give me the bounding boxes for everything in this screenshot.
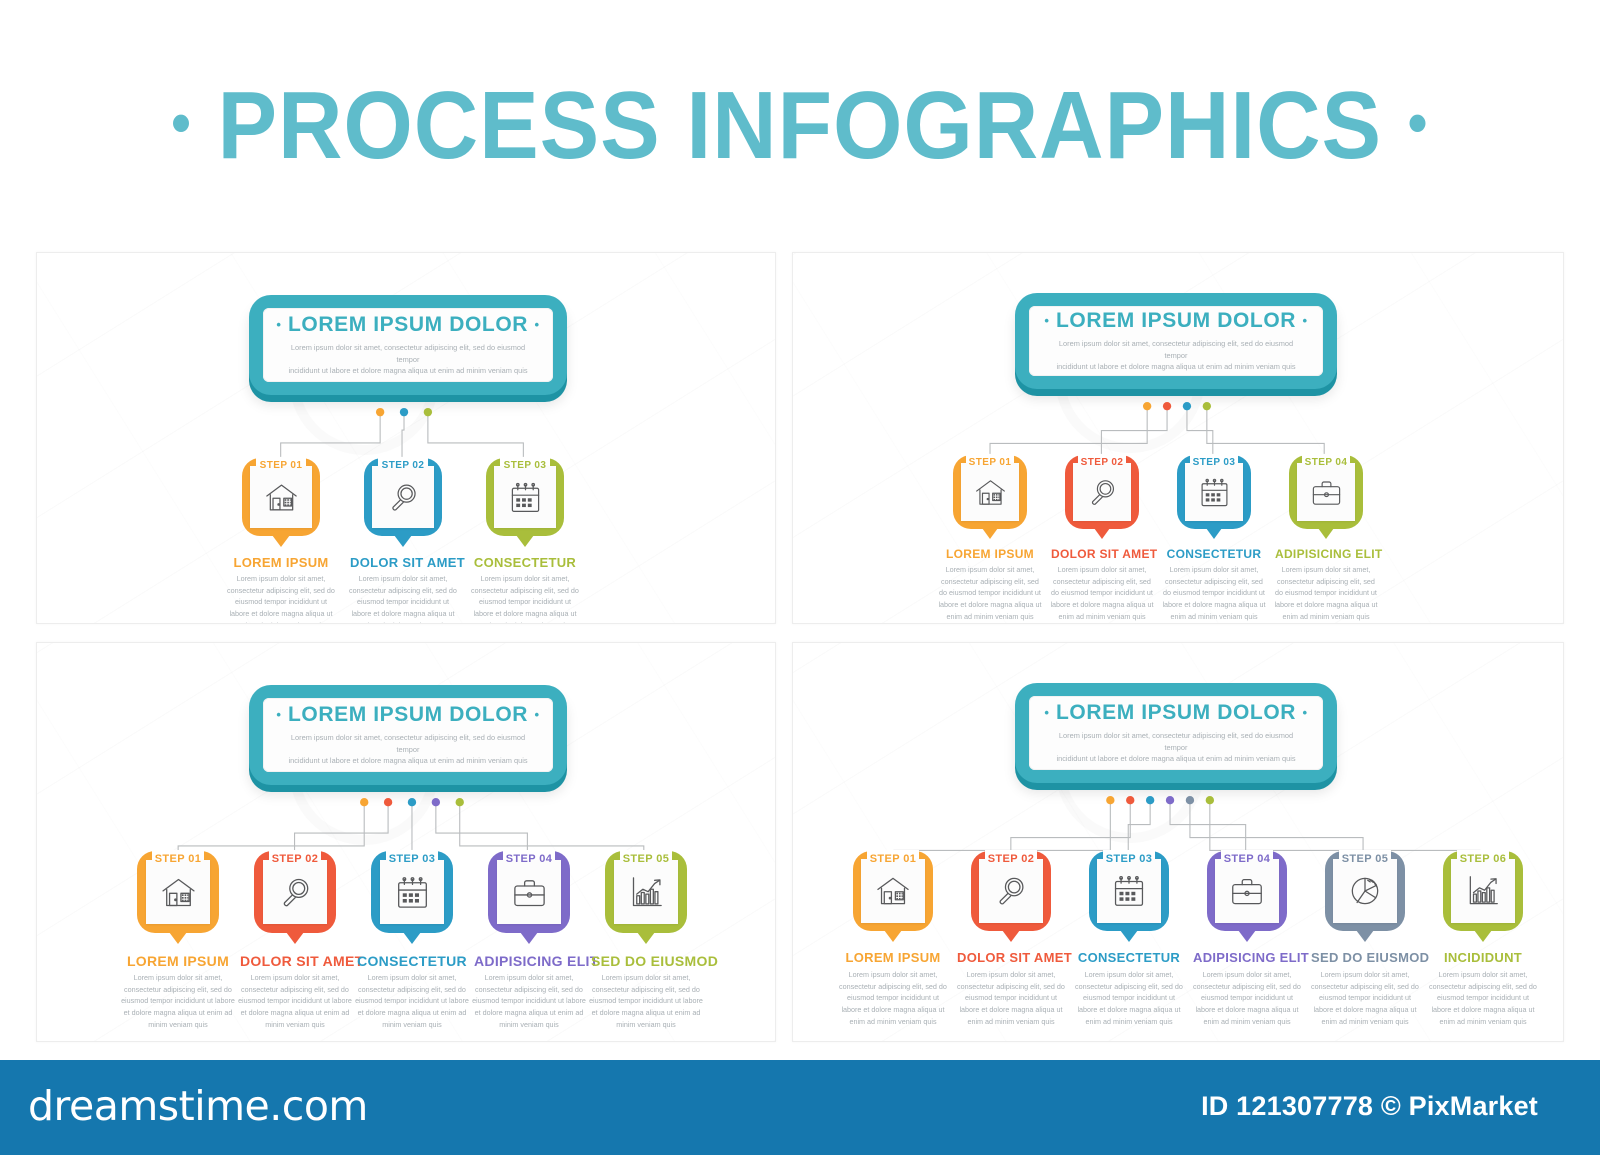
image-id-label: ID 121307778 © PixMarket	[1201, 1091, 1538, 1122]
house-icon	[263, 479, 300, 516]
connector-line	[1170, 800, 1246, 850]
step-icon-card	[1097, 859, 1161, 923]
title-dot-right: •	[1408, 89, 1428, 156]
step-pointer	[169, 932, 187, 944]
step-pointer	[884, 930, 902, 942]
step-description: Lorem ipsum dolor sit amet, consectetur …	[1309, 969, 1421, 1027]
step-pointer	[1238, 930, 1256, 942]
house-icon	[973, 475, 1008, 510]
connector-line	[178, 802, 364, 850]
step-number-label: STEP 02	[1065, 458, 1139, 468]
header-card: • LOREM IPSUM DOLOR •Lorem ipsum dolor s…	[1015, 293, 1337, 389]
panels-container: • LOREM IPSUM DOLOR •Lorem ipsum dolor s…	[0, 252, 1600, 1042]
connector-dot	[400, 408, 408, 416]
step-description: Lorem ipsum dolor sit amet, consectetur …	[1073, 969, 1185, 1027]
connector-line	[1011, 800, 1130, 850]
step-title: DOLOR SIT AMET	[350, 555, 456, 570]
connector-dot	[1203, 402, 1211, 410]
connector-dot	[1126, 796, 1134, 804]
step-description: Lorem ipsum dolor sit amet, consectetur …	[472, 972, 586, 1030]
step-description: Lorem ipsum dolor sit amet, consectetur …	[837, 969, 949, 1027]
step-icon-card	[1297, 463, 1355, 521]
step-number-label: STEP 03	[486, 461, 564, 471]
header-subtitle: Lorem ipsum dolor sit amet, consectetur …	[284, 732, 532, 766]
connector-line	[460, 802, 644, 850]
connector-line	[990, 406, 1147, 454]
step-description: Lorem ipsum dolor sit amet, consectetur …	[1161, 564, 1267, 622]
briefcase-icon	[1228, 872, 1266, 910]
connector-dot	[1206, 796, 1214, 804]
step-pointer	[982, 528, 998, 539]
barchart-icon	[627, 873, 666, 912]
step-number-label: STEP 02	[364, 461, 442, 471]
connector-line	[281, 412, 380, 457]
header-dot-right: •	[1302, 705, 1307, 720]
header-subtitle-line-2: incididunt ut labore et dolore magna ali…	[284, 365, 532, 376]
step-icon-card	[372, 466, 434, 528]
step-icon-card	[494, 466, 556, 528]
step-description: Lorem ipsum dolor sit amet, consectetur …	[470, 573, 580, 624]
step-pointer	[272, 535, 290, 547]
title-dot-left: •	[172, 89, 192, 156]
step-title: ADIPISICING ELIT	[474, 953, 584, 969]
step-icon-card	[1451, 859, 1515, 923]
header-dot-left: •	[276, 317, 281, 332]
header-subtitle-line-2: incididunt ut labore et dolore magna ali…	[1050, 361, 1302, 372]
step-pointer	[1318, 528, 1334, 539]
header-dot-right: •	[1302, 313, 1307, 328]
connector-dot	[432, 798, 440, 806]
step-description: Lorem ipsum dolor sit amet, consectetur …	[355, 972, 469, 1030]
header-subtitle-line-1: Lorem ipsum dolor sit amet, consectetur …	[1050, 338, 1302, 361]
header-subtitle-line-1: Lorem ipsum dolor sit amet, consectetur …	[284, 732, 532, 755]
page-title: • PROCESS INFOGRAPHICS •	[0, 78, 1600, 174]
step-pointer	[1120, 930, 1138, 942]
connector-line	[295, 802, 389, 850]
step-description: Lorem ipsum dolor sit amet, consectetur …	[226, 573, 336, 624]
connector-line	[1210, 800, 1481, 850]
step-title: ADIPISICING ELIT	[1275, 547, 1377, 561]
header-card: • LOREM IPSUM DOLOR •Lorem ipsum dolor s…	[1015, 683, 1337, 783]
magnifier-icon	[1085, 475, 1120, 510]
step-title: CONSECTETUR	[472, 555, 578, 570]
step-icon-card	[979, 859, 1043, 923]
connector-line	[1187, 406, 1213, 454]
step-pointer	[1206, 528, 1222, 539]
header-title-text: LOREM IPSUM DOLOR	[288, 313, 528, 336]
step-description: Lorem ipsum dolor sit amet, consectetur …	[238, 972, 352, 1030]
connector-line	[1128, 800, 1150, 850]
step-number-label: STEP 05	[1325, 854, 1405, 865]
panel-5-steps: • LOREM IPSUM DOLOR •Lorem ipsum dolor s…	[36, 642, 776, 1042]
connector-line	[893, 800, 1110, 850]
header-subtitle-line-1: Lorem ipsum dolor sit amet, consectetur …	[284, 342, 532, 365]
step-icon-card	[861, 859, 925, 923]
step-icon-card	[146, 860, 210, 924]
step-description: Lorem ipsum dolor sit amet, consectetur …	[1191, 969, 1303, 1027]
step-pointer	[394, 535, 412, 547]
connector-dot	[1146, 796, 1154, 804]
step-icon-card	[250, 466, 312, 528]
header-subtitle-line-1: Lorem ipsum dolor sit amet, consectetur …	[1050, 730, 1302, 753]
barchart-icon	[1464, 872, 1502, 910]
briefcase-icon	[1309, 475, 1344, 510]
dreamstime-logo: dreamstime.com	[28, 1082, 368, 1130]
step-pointer	[637, 932, 655, 944]
step-title: CONSECTETUR	[357, 953, 467, 969]
header-card-inner: • LOREM IPSUM DOLOR •Lorem ipsum dolor s…	[1029, 696, 1323, 770]
step-pointer	[403, 932, 421, 944]
step-title: ADIPISICING ELIT	[1193, 950, 1301, 965]
step-pointer	[1094, 528, 1110, 539]
step-title: DOLOR SIT AMET	[1051, 547, 1153, 561]
step-icon-card	[1185, 463, 1243, 521]
step-pointer	[1356, 930, 1374, 942]
step-icon-card	[1073, 463, 1131, 521]
connector-line	[436, 802, 528, 850]
connector-line	[1190, 800, 1363, 850]
header-subtitle: Lorem ipsum dolor sit amet, consectetur …	[1050, 338, 1302, 372]
step-title: DOLOR SIT AMET	[957, 950, 1065, 965]
step-number-label: STEP 03	[371, 854, 453, 865]
step-title: LOREM IPSUM	[123, 953, 233, 969]
calendar-icon	[507, 479, 544, 516]
magnifier-icon	[992, 872, 1030, 910]
header-subtitle: Lorem ipsum dolor sit amet, consectetur …	[1050, 730, 1302, 764]
connector-dot	[384, 798, 392, 806]
connector-line	[428, 412, 523, 457]
calendar-icon	[393, 873, 432, 912]
connector-dot	[456, 798, 464, 806]
panel-6-steps: • LOREM IPSUM DOLOR •Lorem ipsum dolor s…	[792, 642, 1564, 1042]
connector-line	[402, 412, 404, 457]
step-description: Lorem ipsum dolor sit amet, consectetur …	[1273, 564, 1379, 622]
header-title-text: LOREM IPSUM DOLOR	[288, 703, 528, 726]
step-title: LOREM IPSUM	[839, 950, 947, 965]
header-card-inner: • LOREM IPSUM DOLOR •Lorem ipsum dolor s…	[263, 308, 553, 382]
step-title: CONSECTETUR	[1163, 547, 1265, 561]
step-number-label: STEP 04	[1289, 458, 1363, 468]
header-subtitle-line-2: incididunt ut labore et dolore magna ali…	[284, 755, 532, 766]
step-title: LOREM IPSUM	[228, 555, 334, 570]
header-dot-right: •	[534, 317, 539, 332]
step-icon-card	[961, 463, 1019, 521]
calendar-icon	[1197, 475, 1232, 510]
step-pointer	[286, 932, 304, 944]
step-description: Lorem ipsum dolor sit amet, consectetur …	[1049, 564, 1155, 622]
step-number-label: STEP 03	[1177, 458, 1251, 468]
step-title: SED DO EIUSMOD	[591, 953, 701, 969]
house-icon	[874, 872, 912, 910]
header-subtitle-line-2: incididunt ut labore et dolore magna ali…	[1050, 753, 1302, 764]
footer-bar: dreamstime.com ID 121307778 © PixMarket	[0, 1060, 1600, 1155]
step-icon-card	[263, 860, 327, 924]
step-number-label: STEP 01	[137, 854, 219, 865]
step-description: Lorem ipsum dolor sit amet, consectetur …	[955, 969, 1067, 1027]
step-title: DOLOR SIT AMET	[240, 953, 350, 969]
magnifier-icon	[276, 873, 315, 912]
header-card: • LOREM IPSUM DOLOR •Lorem ipsum dolor s…	[249, 295, 567, 395]
header-title: • LOREM IPSUM DOLOR •	[276, 313, 539, 337]
connector-dot	[1166, 796, 1174, 804]
connector-dot	[1106, 796, 1114, 804]
step-number-label: STEP 06	[1443, 854, 1523, 865]
connector-dot	[424, 408, 432, 416]
header-dot-left: •	[1044, 313, 1049, 328]
step-icon-card	[614, 860, 678, 924]
step-number-label: STEP 04	[1207, 854, 1287, 865]
header-title: • LOREM IPSUM DOLOR •	[1044, 309, 1307, 333]
connector-dot	[376, 408, 384, 416]
step-title: CONSECTETUR	[1075, 950, 1183, 965]
step-number-label: STEP 05	[605, 854, 687, 865]
step-number-label: STEP 01	[242, 461, 320, 471]
connector-dot	[408, 798, 416, 806]
step-description: Lorem ipsum dolor sit amet, consectetur …	[937, 564, 1043, 622]
step-icon-card	[1333, 859, 1397, 923]
step-description: Lorem ipsum dolor sit amet, consectetur …	[121, 972, 235, 1030]
connector-line	[1207, 406, 1324, 454]
step-number-label: STEP 03	[1089, 854, 1169, 865]
step-number-label: STEP 02	[254, 854, 336, 865]
dreamstime-logo-text: dreamstime.com	[28, 1082, 368, 1130]
header-card-inner: • LOREM IPSUM DOLOR •Lorem ipsum dolor s…	[1029, 306, 1323, 376]
header-subtitle: Lorem ipsum dolor sit amet, consectetur …	[284, 342, 532, 376]
briefcase-icon	[510, 873, 549, 912]
step-pointer	[1474, 930, 1492, 942]
panel-4-steps: • LOREM IPSUM DOLOR •Lorem ipsum dolor s…	[792, 252, 1564, 624]
header-dot-left: •	[1044, 705, 1049, 720]
step-number-label: STEP 02	[971, 854, 1051, 865]
step-description: Lorem ipsum dolor sit amet, consectetur …	[589, 972, 703, 1030]
step-pointer	[516, 535, 534, 547]
house-icon	[159, 873, 198, 912]
piechart-icon	[1346, 872, 1384, 910]
header-title-text: LOREM IPSUM DOLOR	[1056, 309, 1296, 332]
step-pointer	[520, 932, 538, 944]
infographic-page: • PROCESS INFOGRAPHICS • • LOREM IPSUM D…	[0, 0, 1600, 1155]
header-title: • LOREM IPSUM DOLOR •	[1044, 701, 1307, 725]
step-description: Lorem ipsum dolor sit amet, consectetur …	[1427, 969, 1539, 1027]
step-number-label: STEP 01	[853, 854, 933, 865]
connector-dot	[1163, 402, 1171, 410]
panel-3-steps: • LOREM IPSUM DOLOR •Lorem ipsum dolor s…	[36, 252, 776, 624]
header-title-text: LOREM IPSUM DOLOR	[1056, 701, 1296, 724]
step-description: Lorem ipsum dolor sit amet, consectetur …	[348, 573, 458, 624]
step-pointer	[1002, 930, 1020, 942]
step-title: INCIDIDUNT	[1429, 950, 1537, 965]
magnifier-icon	[385, 479, 422, 516]
step-icon-card	[380, 860, 444, 924]
header-dot-right: •	[534, 707, 539, 722]
header-card: • LOREM IPSUM DOLOR •Lorem ipsum dolor s…	[249, 685, 567, 785]
step-icon-card	[1215, 859, 1279, 923]
header-title: • LOREM IPSUM DOLOR •	[276, 703, 539, 727]
step-title: SED DO EIUSMOD	[1311, 950, 1419, 965]
step-number-label: STEP 04	[488, 854, 570, 865]
step-number-label: STEP 01	[953, 458, 1027, 468]
connector-dot	[360, 798, 368, 806]
header-card-inner: • LOREM IPSUM DOLOR •Lorem ipsum dolor s…	[263, 698, 553, 772]
calendar-icon	[1110, 872, 1148, 910]
title-text: PROCESS INFOGRAPHICS	[218, 72, 1383, 179]
connector-dot	[1183, 402, 1191, 410]
step-icon-card	[497, 860, 561, 924]
header-dot-left: •	[276, 707, 281, 722]
step-title: LOREM IPSUM	[939, 547, 1041, 561]
connector-line	[1101, 406, 1167, 454]
connector-dot	[1186, 796, 1194, 804]
connector-dot	[1143, 402, 1151, 410]
